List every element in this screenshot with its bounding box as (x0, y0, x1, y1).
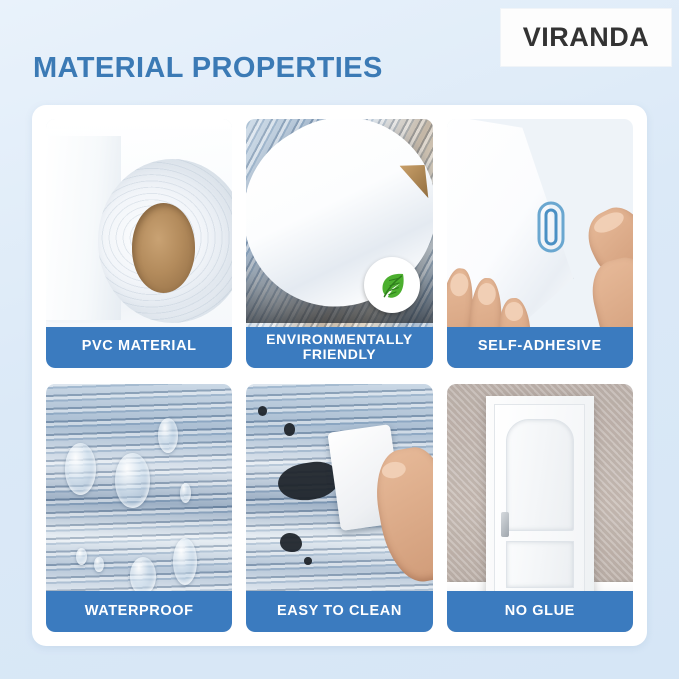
page-title: MATERIAL PROPERTIES (33, 52, 383, 85)
card-label-text: EASY TO CLEAN (277, 604, 402, 619)
door-handle-icon (501, 512, 509, 537)
stain-mark (280, 533, 302, 553)
page-header: MATERIAL PROPERTIES VIRANDA (0, 0, 679, 105)
water-droplet (94, 557, 103, 572)
feature-panel: PVC MATERIAL ENVIRONMENTALLY (32, 105, 647, 646)
card-label-self-adhesive: SELF-ADHESIVE (447, 327, 633, 368)
brand-name: VIRANDA (523, 22, 650, 53)
card-label-text: SELF-ADHESIVE (478, 339, 602, 354)
paperclip-icon (534, 199, 568, 255)
card-label-pvc-material: PVC MATERIAL (46, 327, 232, 368)
feature-card-environmentally-friendly[interactable]: ENVIRONMENTALLY FRIENDLY (246, 119, 432, 368)
feature-card-self-adhesive[interactable]: SELF-ADHESIVE (447, 119, 633, 368)
leaf-icon (364, 257, 420, 313)
card-label-text: WATERPROOF (85, 604, 194, 619)
water-droplet (115, 453, 150, 508)
door (486, 396, 594, 605)
card-label-environmentally-friendly: ENVIRONMENTALLY FRIENDLY (246, 327, 432, 368)
feature-card-easy-to-clean[interactable]: EASY TO CLEAN (246, 384, 432, 633)
card-label-text-line1: ENVIRONMENTALLY (266, 332, 413, 347)
water-droplet (130, 557, 156, 594)
feature-card-no-glue[interactable]: NO GLUE (447, 384, 633, 633)
feature-card-waterproof[interactable]: WATERPROOF (46, 384, 232, 633)
card-label-text: PVC MATERIAL (82, 339, 197, 354)
water-droplet (173, 538, 197, 585)
water-droplet (76, 548, 87, 565)
card-label-text: NO GLUE (505, 604, 575, 619)
card-label-no-glue: NO GLUE (447, 591, 633, 632)
stain-mark (304, 557, 311, 564)
feature-card-pvc-material[interactable]: PVC MATERIAL (46, 119, 232, 368)
stain-mark (284, 423, 295, 435)
stain-mark (258, 406, 267, 416)
card-label-waterproof: WATERPROOF (46, 591, 232, 632)
card-label-easy-to-clean: EASY TO CLEAN (246, 591, 432, 632)
card-label-text-line2: FRIENDLY (303, 347, 377, 362)
feature-grid: PVC MATERIAL ENVIRONMENTALLY (46, 119, 633, 632)
brand-logo: VIRANDA (500, 8, 672, 67)
